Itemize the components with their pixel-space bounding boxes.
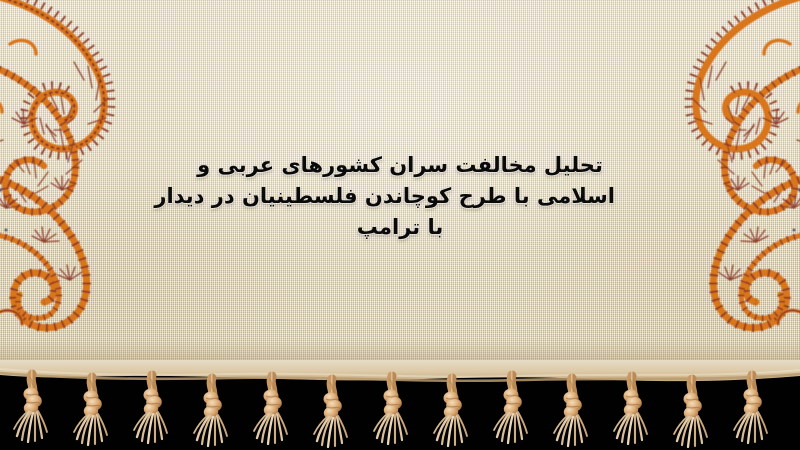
cloth-hem-shadow [0,340,800,374]
title-line-1: تحلیل مخالفت سران کشورهای عربی و [185,150,615,181]
title-line-3: با ترامپ [185,212,615,243]
banner-image: تحلیل مخالفت سران کشورهای عربی و اسلامی … [0,0,800,450]
title-line-2: اسلامی با طرح کوچاندن فلسطینیان در دیدار [185,181,615,212]
banner-title: تحلیل مخالفت سران کشورهای عربی و اسلامی … [185,150,615,243]
